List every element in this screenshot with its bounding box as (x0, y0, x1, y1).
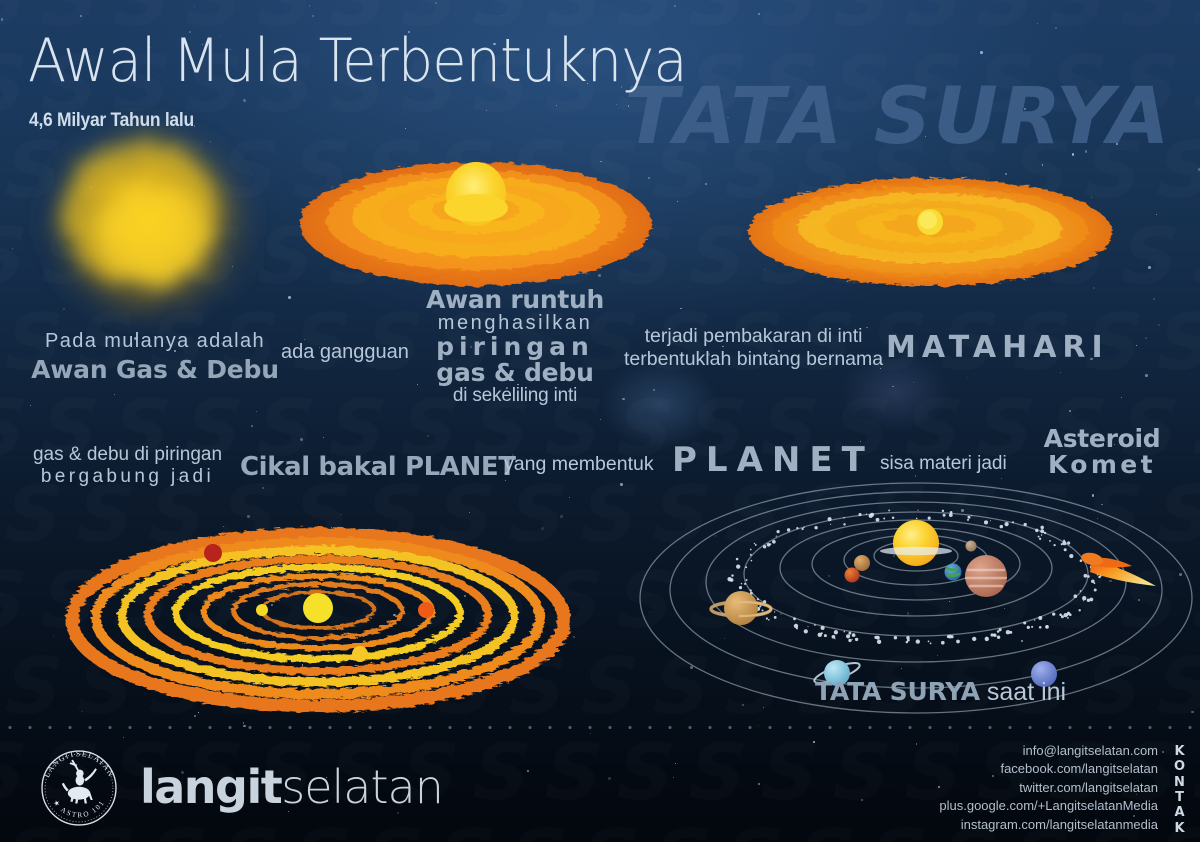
caption-accretion-line1: gas & debu di piringan (30, 444, 225, 466)
caption-accretion-line2: bergabung jadi (30, 466, 225, 488)
caption-today-bold: TATA SURYA (815, 677, 980, 706)
label-matahari: MATAHARI (886, 330, 1109, 365)
caption-ignition: terjadi pembakaran di inti terbentuklah … (624, 325, 883, 370)
page-subtitle: 4,6 Milyar Tahun lalu (29, 110, 194, 132)
protoplanetary-disk-illustration (66, 512, 576, 712)
contact-item[interactable]: instagram.com/langitselatanmedia (939, 816, 1158, 834)
saturn-body (724, 591, 758, 625)
protostar-disk-illustration (744, 172, 1116, 294)
venus-body (854, 555, 870, 571)
langitselatan-logo-icon: LANGITSELATAN ★ ASTRO 101 (36, 745, 122, 831)
caption-collapse-line1: Awan runtuh (420, 287, 610, 313)
caption-today-light: saat ini (987, 678, 1066, 706)
label-cikal-bakal-planet: Cikal bakal PLANET (240, 452, 516, 482)
caption-collapse-line5: di sekeliling inti (420, 386, 610, 406)
kontak-letter: N (1172, 775, 1188, 790)
svg-text:★ ASTRO 101: ★ ASTRO 101 (51, 798, 106, 819)
caption-cloud-bold: Awan Gas & Debu (30, 355, 280, 384)
caption-cloud-lead: Pada mulanya adalah (30, 330, 280, 353)
kontak-letter: T (1172, 790, 1188, 805)
contact-item[interactable]: twitter.com/langitselatan (939, 779, 1158, 797)
gas-dust-cloud-illustration (0, 95, 300, 355)
sun-body (893, 520, 939, 566)
centaur-emblem (62, 760, 97, 804)
kontak-letter: A (1172, 805, 1188, 820)
caption-ignition-line1: terjadi pembakaran di inti (624, 325, 883, 348)
kontak-letter: O (1172, 759, 1188, 774)
caption-cloud: Pada mulanya adalah Awan Gas & Debu (30, 330, 280, 384)
label-planet: PLANET (672, 440, 874, 480)
caption-collapse-line4: gas & debu (420, 360, 610, 386)
brand-light: selatan (281, 760, 443, 814)
kontak-letter: K (1172, 744, 1188, 759)
contact-item[interactable]: plus.google.com/+LangitselatanMedia (939, 797, 1158, 815)
caption-disturbance: ada gangguan (281, 341, 409, 364)
kontak-letter: K (1172, 821, 1188, 836)
label-asteroid: Asteroid (1022, 426, 1182, 452)
mercury-body (966, 541, 977, 552)
caption-forming: yang membentuk (504, 453, 654, 476)
infographic-poster: SSSSSSSSSSSSSSSSSSSSSSSSSSSSSSSSSSSSSSSS… (0, 0, 1200, 842)
saturn-group (711, 591, 771, 625)
contact-item[interactable]: info@langitselatan.com (939, 742, 1158, 760)
contact-item[interactable]: facebook.com/langitselatan (939, 760, 1158, 778)
brand-bold: langit (140, 760, 281, 814)
footer-divider (0, 726, 1200, 729)
proto-sun (303, 593, 333, 623)
caption-leftovers: sisa materi jadi (880, 453, 1007, 475)
caption-accretion: gas & debu di piringan bergabung jadi (30, 444, 225, 489)
page-title: Awal Mula Terbentuknya (28, 26, 687, 96)
caption-solar-system-today: TATA SURYA saat ini (815, 677, 1066, 707)
caption-collapse-line2: menghasilkan (420, 313, 610, 334)
big-title-tata-surya: TATA SURYA (625, 72, 1172, 162)
label-komet: Komet (1022, 452, 1182, 478)
caption-ignition-line2: terbentuklah bintang bernama (624, 348, 883, 371)
caption-collapse: Awan runtuh menghasilkan piringan gas & … (420, 287, 610, 406)
logo-inner-text: ★ ASTRO 101 (51, 798, 106, 819)
contact-list: info@langitselatan.comfacebook.com/langi… (939, 742, 1158, 834)
mars-body (845, 568, 860, 583)
kontak-label: KONTAK (1172, 744, 1188, 836)
earth-body (945, 564, 962, 581)
label-asteroid-komet: Asteroid Komet (1022, 426, 1182, 478)
comet-group (1080, 551, 1156, 586)
brand-wordmark: langitselatan (140, 760, 443, 814)
caption-collapse-line3: piringan (420, 334, 610, 360)
jupiter-body (965, 555, 1007, 597)
collapsing-cloud-disk-illustration (296, 140, 656, 300)
